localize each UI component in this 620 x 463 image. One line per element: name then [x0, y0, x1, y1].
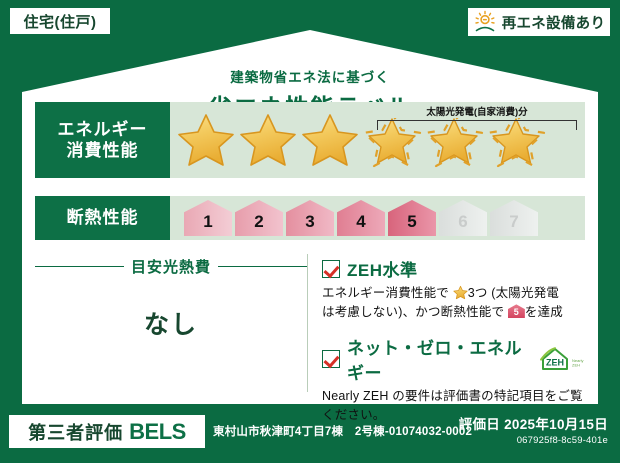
insulation-step-3: 3 — [286, 200, 334, 236]
zeh-text-c: は考慮しない)、かつ断熱性能で — [322, 305, 504, 319]
zeh-text-a: エネルギー消費性能で — [322, 286, 449, 300]
star-filled-2 — [238, 111, 298, 169]
utility-cost-heading-text: 目安光熱費 — [131, 256, 211, 277]
insulation-label-box: 断熱性能 — [35, 196, 170, 240]
zeh-logo-icon: ZEH Nearly ZEH — [539, 346, 585, 372]
step-number: 6 — [458, 213, 467, 236]
certificate-id: 067925f8-8c59-401e — [459, 435, 608, 446]
svg-text:ZEH: ZEH — [572, 362, 580, 367]
star-filled-3 — [300, 111, 360, 169]
heading-rule-right — [218, 266, 307, 268]
solar-bracket-label: 太陽光発電(自家消費)分 — [377, 104, 577, 118]
title-subtitle: 建築物省エネ法に基づく — [22, 66, 598, 86]
step-number: 1 — [203, 213, 212, 236]
step-number: 4 — [356, 213, 365, 236]
zeh-text-b: 3つ (太陽光発電 — [468, 286, 559, 300]
net-zero-title: ネット・ゼロ・エネルギー — [347, 334, 532, 384]
insulation-step-5: 5 — [388, 200, 436, 236]
utility-cost-value: なし — [35, 305, 307, 341]
energy-label-line2: 消費性能 — [67, 140, 139, 161]
step-number: 7 — [509, 213, 518, 236]
energy-performance-row: エネルギー 消費性能 — [35, 102, 585, 178]
energy-performance-label-box: エネルギー 消費性能 — [35, 102, 170, 178]
utility-cost-block: 目安光熱費 なし — [35, 250, 307, 398]
inline-badge-number: 5 — [508, 304, 525, 318]
insulation-step-1: 1 — [184, 200, 232, 236]
heading-rule-left — [35, 266, 124, 268]
insulation-steps-area: 1 2 3 4 5 6 7 — [170, 196, 585, 240]
insulation-label: 断熱性能 — [67, 207, 139, 228]
sun-icon — [473, 10, 497, 34]
footer-bar: 第三者評価 BELS 東村山市秋津町4丁目7棟 2号棟-01074032-000… — [0, 404, 620, 463]
zeh-logo-text: ZEH — [546, 357, 564, 367]
net-zero-header: ネット・ゼロ・エネルギー ZEH Nearly ZEH — [322, 334, 585, 384]
housing-type-badge: 住宅(住戸) — [9, 7, 111, 35]
evaluation-date-label: 評価日 — [459, 417, 500, 432]
lower-section: 目安光熱費 なし ZEH水準 エネルギー消費性能で 3つ (太陽光発電 は考慮し… — [35, 250, 585, 398]
zeh-block: ZEH水準 エネルギー消費性能で 3つ (太陽光発電 は考慮しない)、かつ断熱性… — [308, 250, 585, 398]
evaluation-date-block: 評価日 2025年10月15日 067925f8-8c59-401e — [459, 413, 608, 446]
housing-type-text: 住宅(住戸) — [24, 11, 97, 32]
renewable-equipment-badge: 再エネ設備あり — [467, 7, 611, 37]
insulation-step-6: 6 — [439, 200, 487, 236]
solar-bracket: 太陽光発電(自家消費)分 — [377, 106, 577, 130]
checkmark-icon — [322, 350, 340, 368]
bels-left-text: 第三者評価 — [28, 419, 123, 445]
evaluation-date-line: 評価日 2025年10月15日 — [459, 413, 608, 433]
zeh-text-d: を達成 — [525, 305, 563, 319]
zeh-standard-title: ZEH水準 — [347, 256, 418, 281]
bels-logo-text: BELS — [129, 419, 186, 445]
insulation-step-7: 7 — [490, 200, 538, 236]
insulation-step-2: 2 — [235, 200, 283, 236]
property-address: 東村山市秋津町4丁目7棟 2号棟-01074032-0002 — [213, 423, 472, 439]
solar-bracket-line — [377, 120, 577, 130]
energy-performance-label: 住宅(住戸) 再エネ設備あり 建築物省エネ法に基づく 省エネ性能ラベル — [0, 0, 620, 463]
bels-badge: 第三者評価 BELS — [9, 415, 205, 448]
zeh-standard-text: エネルギー消費性能で 3つ (太陽光発電 は考慮しない)、かつ断熱性能で 5 を… — [322, 284, 585, 323]
step-number: 3 — [305, 213, 314, 236]
energy-label-line1: エネルギー — [58, 119, 148, 140]
insulation-step-4: 4 — [337, 200, 385, 236]
star-filled-1 — [176, 111, 236, 169]
evaluation-date-value: 2025年10月15日 — [504, 417, 608, 432]
checkmark-icon — [322, 260, 340, 278]
inline-rating-badge: 5 — [508, 304, 525, 318]
step-number: 5 — [407, 213, 416, 236]
utility-cost-heading: 目安光熱費 — [35, 256, 307, 277]
step-number: 2 — [254, 213, 263, 236]
zeh-standard-header: ZEH水準 — [322, 256, 585, 281]
energy-stars-area: 太陽光発電(自家消費)分 — [170, 102, 585, 178]
zeh-standard-item: ZEH水準 エネルギー消費性能で 3つ (太陽光発電 は考慮しない)、かつ断熱性… — [322, 256, 585, 323]
inline-star-icon — [453, 285, 468, 300]
insulation-performance-row: 断熱性能 1 2 3 4 5 — [35, 196, 585, 240]
renewable-text: 再エネ設備あり — [502, 12, 606, 33]
